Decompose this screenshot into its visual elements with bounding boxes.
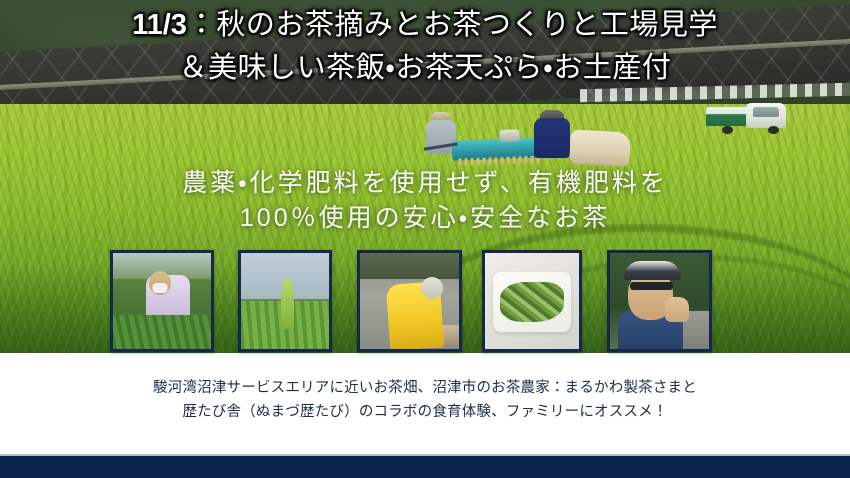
stone-wall — [360, 253, 459, 279]
thumbnail-3-image — [360, 253, 459, 349]
truck-tarp — [706, 107, 750, 126]
worker-body — [534, 118, 570, 158]
slide-root: 11/3：秋のお茶摘みとお茶つくりと工場見学 ＆美味しい茶飯・お茶天ぷら・お土産… — [0, 0, 850, 478]
kei-truck-with-green-tarp — [706, 101, 802, 136]
caption-block: 駿河湾沼津サービスエリアに近いお茶畑、沼津市のお茶農家：まるかわ製茶さまと 歴た… — [0, 353, 850, 456]
thumbnail-2-image — [241, 253, 329, 349]
thumbnail-4-image — [485, 253, 579, 349]
hero-title-line-1-rest: ：秋のお茶摘みとお茶つくりと工場見学 — [187, 9, 718, 41]
thumbnail-2[interactable] — [238, 250, 332, 352]
glasses-icon — [630, 282, 674, 291]
thumbnail-1-image — [113, 253, 211, 349]
thumbnail-1[interactable] — [110, 250, 214, 352]
thumbnail-5-image — [610, 253, 709, 349]
hero-subtitle-line-1: 農薬・化学肥料を使用せず、有機肥料を — [0, 166, 850, 201]
caption-line-1: 駿河湾沼津サービスエリアに近いお茶畑、沼津市のお茶農家：まるかわ製茶さまと — [0, 376, 850, 400]
worker-in-navy-shirt — [532, 110, 572, 162]
harvester-motor — [499, 129, 519, 142]
steamed-tea-leaves — [500, 282, 564, 322]
hero-subtitle-line-2: 100％使用の安心・安全なお茶 — [0, 201, 850, 236]
baseball-cap — [624, 261, 681, 280]
caption-line-2: 歴たび舎（ぬまづ歴たび）のコラボの食育体験、ファミリーにオススメ！ — [0, 400, 850, 424]
truck-rear-wheel — [722, 126, 733, 134]
truck-window — [753, 107, 779, 117]
hero-title-line-1: 11/3：秋のお茶摘みとお茶つくりと工場見学 — [0, 4, 850, 47]
hand-tasting-leaf — [665, 297, 689, 322]
hero-title-line-2: ＆美味しい茶飯・お茶天ぷら・お土産付 — [0, 47, 850, 90]
face-mask — [153, 283, 168, 293]
hero-subtitle-block: 農薬・化学肥料を使用せず、有機肥料を 100％使用の安心・安全なお茶 — [0, 166, 850, 236]
truck-front-wheel — [768, 126, 779, 134]
tea-leaf-collection-bag — [569, 129, 631, 166]
thumbnail-5[interactable] — [607, 250, 712, 352]
thumbnail-strip — [0, 250, 850, 354]
event-date-label: 11/3 — [132, 9, 187, 41]
foreground-foliage — [113, 315, 211, 349]
footer-bar — [0, 456, 850, 478]
thumbnail-4[interactable] — [482, 250, 582, 352]
thumbnail-3[interactable] — [357, 250, 462, 352]
hero-title-block: 11/3：秋のお茶摘みとお茶つくりと工場見学 ＆美味しい茶飯・お茶天ぷら・お土産… — [0, 4, 850, 90]
